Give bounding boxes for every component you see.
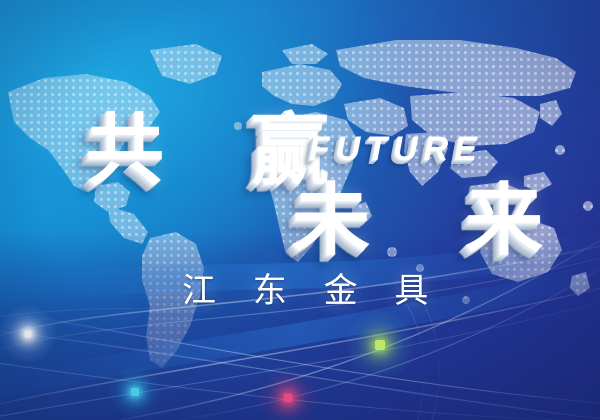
headline-line2-weilai: 未 来 [292, 182, 577, 260]
headline-group: 共 赢 FUTURE 未 来 江 东 金 具 [0, 0, 600, 420]
promo-banner: 共 赢 FUTURE 未 来 江 东 金 具 [0, 0, 600, 420]
headline-english-future: FUTURE [309, 132, 483, 166]
company-name-subtitle: 江 东 金 具 [182, 274, 441, 308]
